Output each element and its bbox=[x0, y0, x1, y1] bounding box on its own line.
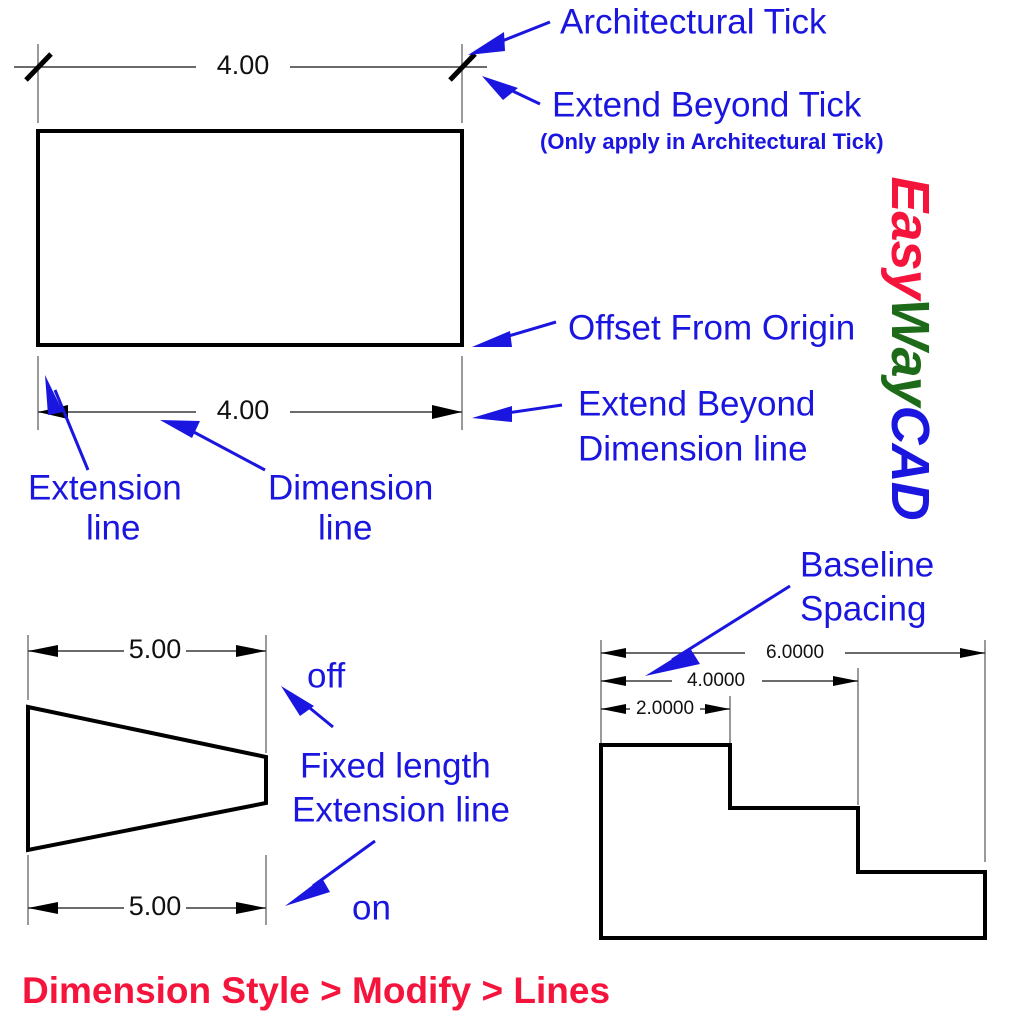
leader-arrow-extend-beyond-dim bbox=[472, 406, 512, 422]
stepped-part-outline bbox=[601, 745, 985, 938]
stepped-dim4-arrow-right bbox=[833, 676, 858, 686]
trapezoid-dim-value-bottom: 5.00 bbox=[129, 891, 182, 921]
stepped-dim2-arrow-left bbox=[601, 704, 626, 714]
trapezoid-arrow-bottom-right bbox=[236, 902, 266, 914]
trapezoid-arrow-top-left bbox=[28, 645, 58, 657]
brand-logo-easy: Easy bbox=[880, 176, 940, 298]
annotation-extend-beyond-tick: Extend Beyond Tick (Only apply in Archit… bbox=[482, 76, 884, 154]
trapezoid-arrow-top-right bbox=[236, 645, 266, 657]
annotation-extension-line-2: line bbox=[86, 508, 140, 547]
leader-arrow-architectural-tick bbox=[468, 32, 505, 55]
leader-extension-line bbox=[55, 390, 88, 470]
annotation-dimension-line: Dimension line bbox=[160, 420, 433, 547]
annotation-fixed-off-label: off bbox=[307, 656, 346, 695]
figure-rectangle: 4.00 4.00 bbox=[14, 44, 487, 430]
leader-dimension-line bbox=[190, 430, 265, 470]
annotation-dimension-line-1: Dimension bbox=[268, 468, 433, 507]
annotation-fixed-length-extension: off Fixed length Extension line on bbox=[281, 656, 510, 927]
dimension-value-top: 4.00 bbox=[217, 50, 270, 80]
annotation-offset-from-origin-label: Offset From Origin bbox=[568, 308, 855, 347]
footer-caption: Dimension Style > Modify > Lines bbox=[22, 970, 610, 1011]
annotation-extension-line: Extension line bbox=[28, 375, 182, 547]
annotation-architectural-tick: Architectural Tick bbox=[468, 2, 827, 55]
stepped-dim-value-4: 4.0000 bbox=[687, 670, 745, 691]
brand-logo: EasyWayCAD bbox=[878, 138, 942, 558]
cad-dimension-diagram: 4.00 4.00 Architectural Tick Extend Beyo… bbox=[0, 0, 1024, 1024]
leader-arrow-offset-from-origin bbox=[472, 331, 512, 347]
figure-trapezoid: 5.00 5.00 bbox=[28, 634, 266, 925]
annotation-extend-beyond-dim-line1: Extend Beyond bbox=[578, 384, 815, 423]
diagram-canvas: 4.00 4.00 Architectural Tick Extend Beyo… bbox=[0, 0, 1024, 1024]
brand-logo-cad: CAD bbox=[880, 406, 940, 520]
annotation-extend-beyond-tick-label: Extend Beyond Tick bbox=[552, 85, 862, 124]
leader-arrow-extend-beyond-tick bbox=[482, 76, 518, 100]
rectangle-outline bbox=[38, 131, 462, 345]
stepped-dim6-arrow-left bbox=[601, 648, 626, 658]
annotation-baseline-spacing-2: Spacing bbox=[800, 589, 926, 628]
annotation-architectural-tick-label: Architectural Tick bbox=[560, 2, 827, 41]
annotation-offset-from-origin: Offset From Origin bbox=[472, 308, 855, 347]
stepped-dim4-arrow-left bbox=[601, 676, 626, 686]
annotation-fixed-length-line1: Fixed length bbox=[300, 746, 491, 785]
stepped-dim2-arrow-right bbox=[705, 704, 730, 714]
stepped-dim6-arrow-right bbox=[960, 648, 985, 658]
figure-stepped-part: 6.0000 4.0000 2.0000 bbox=[601, 640, 985, 938]
trapezoid-outline bbox=[28, 707, 266, 850]
stepped-dim-value-6: 6.0000 bbox=[766, 642, 824, 663]
annotation-dimension-line-2: line bbox=[318, 508, 372, 547]
annotation-extension-line-1: Extension bbox=[28, 468, 182, 507]
annotation-extend-beyond-dim-line2: Dimension line bbox=[578, 429, 808, 468]
stepped-dim-value-2: 2.0000 bbox=[636, 698, 694, 719]
arrowhead-right bbox=[432, 405, 462, 419]
brand-logo-way: Way bbox=[880, 299, 940, 406]
trapezoid-arrow-bottom-left bbox=[28, 902, 58, 914]
leader-arrow-dimension-line bbox=[160, 420, 200, 438]
annotation-extend-beyond-tick-note: (Only apply in Architectural Tick) bbox=[540, 129, 884, 154]
annotation-extend-beyond-dimension-line: Extend Beyond Dimension line bbox=[472, 384, 815, 468]
annotation-fixed-length-line2: Extension line bbox=[292, 790, 510, 829]
leader-arrow-extension-line bbox=[45, 375, 63, 415]
annotation-fixed-on-label: on bbox=[352, 888, 391, 927]
trapezoid-dim-value-top: 5.00 bbox=[129, 634, 182, 664]
leader-arrow-fixed-on bbox=[285, 878, 330, 906]
dimension-value-bottom: 4.00 bbox=[217, 395, 270, 425]
